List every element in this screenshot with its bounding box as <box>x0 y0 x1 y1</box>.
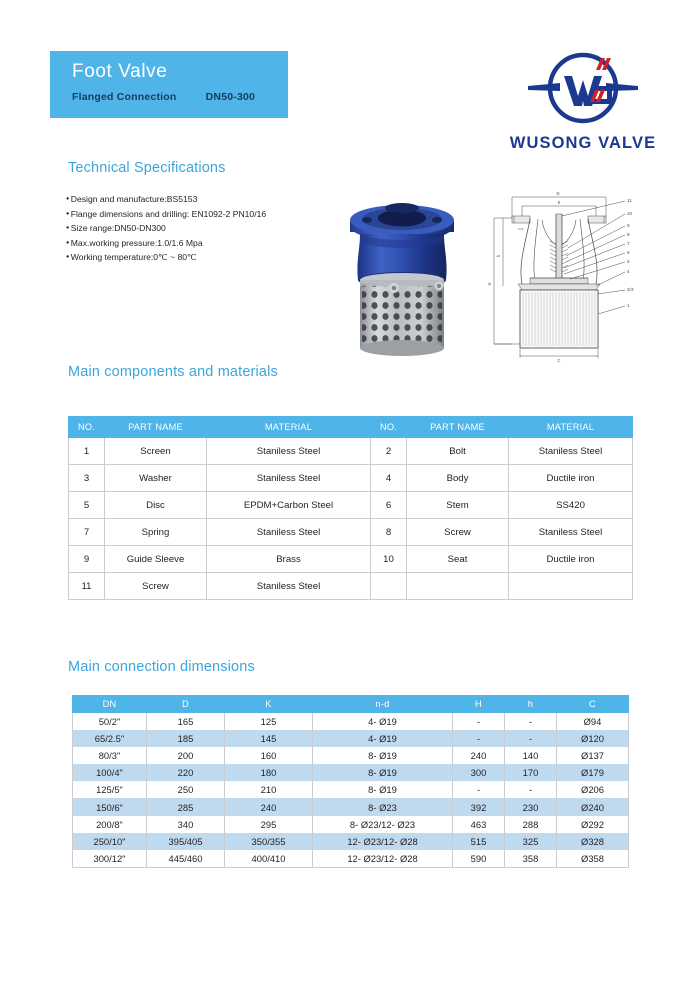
table-row: 50/2"1651254- Ø19--Ø94 <box>73 713 629 730</box>
dimension-label-h: h <box>496 254 501 257</box>
heading-technical-specifications: Technical Specifications <box>68 160 226 176</box>
components-table-body: 1ScreenStaniless Steel2BoltStaniless Ste… <box>69 438 633 600</box>
table-row: 100/4"2201808- Ø19300170Ø179 <box>73 764 629 781</box>
banner-subtitle: Flanged Connection DN50-300 <box>72 91 288 103</box>
table-cell: 463 <box>453 816 505 833</box>
table-cell: Brass <box>207 546 371 573</box>
spec-item: Size range:DN50-DN300 <box>66 221 366 236</box>
column-header: MATERIAL <box>207 417 371 438</box>
table-cell: 4- Ø19 <box>313 713 453 730</box>
table-cell: 165 <box>147 713 225 730</box>
connection-type-label: Flanged Connection <box>72 91 177 103</box>
table-cell: 358 <box>505 850 557 867</box>
table-cell: - <box>453 781 505 798</box>
technical-specifications-list: Design and manufacture:BS5153Flange dime… <box>66 192 366 265</box>
table-row: 125/5"2502108- Ø19--Ø206 <box>73 781 629 798</box>
table-row: 7SpringStaniless Steel8ScrewStaniless St… <box>69 519 633 546</box>
column-header: n-d <box>313 696 453 713</box>
table-cell: Washer <box>105 465 207 492</box>
spec-item: Max.working pressure:1.0/1.6 Mpa <box>66 236 366 251</box>
table-row: 80/3"2001608- Ø19240140Ø137 <box>73 747 629 764</box>
table-cell: 185 <box>147 730 225 747</box>
table-cell: 325 <box>505 833 557 850</box>
table-cell: 12- Ø23/12- Ø28 <box>313 850 453 867</box>
table-cell: 150/6" <box>73 798 147 815</box>
table-cell: SS420 <box>509 492 633 519</box>
callout-7: 7 <box>627 241 630 246</box>
company-logo: WUSONG VALVE <box>498 44 668 153</box>
foot-valve-cross-section-drawing: D K H h n-d <box>482 186 648 364</box>
table-cell: Staniless Steel <box>207 438 371 465</box>
table-cell: 3 <box>69 465 105 492</box>
table-cell: 8- Ø23 <box>313 798 453 815</box>
table-cell: 8- Ø23/12- Ø23 <box>313 816 453 833</box>
table-cell: 140 <box>505 747 557 764</box>
column-header: K <box>225 696 313 713</box>
table-cell: 125/5" <box>73 781 147 798</box>
table-cell: 200/8" <box>73 816 147 833</box>
table-cell: 250/10" <box>73 833 147 850</box>
table-cell: 220 <box>147 764 225 781</box>
callout-9: 9 <box>627 223 630 228</box>
table-cell: 9 <box>69 546 105 573</box>
table-row: 1ScreenStaniless Steel2BoltStaniless Ste… <box>69 438 633 465</box>
table-cell: 285 <box>147 798 225 815</box>
table-cell: Ductile iron <box>509 546 633 573</box>
table-cell: 125 <box>225 713 313 730</box>
column-header: h <box>505 696 557 713</box>
table-cell: 8 <box>371 519 407 546</box>
dimension-label-K: K <box>558 200 561 205</box>
table-cell: 400/410 <box>225 850 313 867</box>
table-cell: 4- Ø19 <box>313 730 453 747</box>
table-cell: 515 <box>453 833 505 850</box>
logo-wordmark: WUSONG VALVE <box>498 134 668 153</box>
table-cell: 2 <box>371 438 407 465</box>
table-cell: Ø292 <box>557 816 629 833</box>
table-cell: 6 <box>371 492 407 519</box>
table-row: 300/12"445/460400/41012- Ø23/12- Ø285903… <box>73 850 629 867</box>
callout-8: 8 <box>627 232 630 237</box>
callout-10: 10 <box>627 211 633 216</box>
table-row: 250/10"395/405350/35512- Ø23/12- Ø285153… <box>73 833 629 850</box>
table-cell: Staniless Steel <box>207 573 371 600</box>
table-cell: 590 <box>453 850 505 867</box>
callout-1: 1 <box>627 303 630 308</box>
table-cell: Screw <box>407 519 509 546</box>
table-cell: 65/2.5" <box>73 730 147 747</box>
callout-4: 4 <box>627 269 630 274</box>
dimension-label-nd: n-d <box>519 227 524 231</box>
table-cell: 145 <box>225 730 313 747</box>
table-cell: Ø137 <box>557 747 629 764</box>
table-cell: 350/355 <box>225 833 313 850</box>
callout-2-3: 2/3 <box>627 287 634 292</box>
column-header: C <box>557 696 629 713</box>
table-cell: Screw <box>105 573 207 600</box>
table-cell: 5 <box>69 492 105 519</box>
table-cell: Disc <box>105 492 207 519</box>
table-row: 11ScrewStaniless Steel <box>69 573 633 600</box>
table-cell: - <box>453 713 505 730</box>
spec-item: Flange dimensions and drilling: EN1092-2… <box>66 207 366 222</box>
table-cell: 200 <box>147 747 225 764</box>
table-cell: Staniless Steel <box>207 519 371 546</box>
column-header: H <box>453 696 505 713</box>
drawing-callout-labels: 11 10 9 8 7 6 5 4 2/3 1 <box>627 198 634 308</box>
table-row: 150/6"2852408- Ø23392230Ø240 <box>73 798 629 815</box>
table-cell: 288 <box>505 816 557 833</box>
table-cell: Ø240 <box>557 798 629 815</box>
table-cell: 240 <box>225 798 313 815</box>
components-materials-table: NO.PART NAMEMATERIALNO.PART NAMEMATERIAL… <box>68 416 633 600</box>
spec-item: Working temperature:0℃ ~ 80℃ <box>66 250 366 265</box>
table-cell: Bolt <box>407 438 509 465</box>
table-cell: Ø94 <box>557 713 629 730</box>
dimension-label-H: H <box>487 282 492 285</box>
table-cell: Ø328 <box>557 833 629 850</box>
table-cell: 240 <box>453 747 505 764</box>
table-cell: Ø358 <box>557 850 629 867</box>
table-cell: Ø206 <box>557 781 629 798</box>
table-cell: Screen <box>105 438 207 465</box>
table-cell: 8- Ø19 <box>313 781 453 798</box>
table-cell: Ø120 <box>557 730 629 747</box>
page-title: Foot Valve <box>72 60 288 84</box>
column-header: PART NAME <box>407 417 509 438</box>
table-cell: 1 <box>69 438 105 465</box>
table-header-row: NO.PART NAMEMATERIALNO.PART NAMEMATERIAL <box>69 417 633 438</box>
table-cell <box>407 573 509 600</box>
table-cell: Guide Sleeve <box>105 546 207 573</box>
table-cell: 12- Ø23/12- Ø28 <box>313 833 453 850</box>
table-cell <box>371 573 407 600</box>
callout-11: 11 <box>627 198 632 203</box>
table-cell: 340 <box>147 816 225 833</box>
foot-valve-photo-illustration <box>336 190 468 362</box>
table-header-row: DNDKn-dHhC <box>73 696 629 713</box>
table-cell: Ductile iron <box>509 465 633 492</box>
callout-5: 5 <box>627 259 630 264</box>
table-cell: 4 <box>371 465 407 492</box>
size-range-label: DN50-300 <box>206 91 255 103</box>
heading-main-components: Main components and materials <box>68 364 278 380</box>
spec-item: Design and manufacture:BS5153 <box>66 192 366 207</box>
table-cell: Staniless Steel <box>509 519 633 546</box>
table-cell: Stem <box>407 492 509 519</box>
product-photo <box>336 190 468 362</box>
table-row: 5DiscEPDM+Carbon Steel6StemSS420 <box>69 492 633 519</box>
table-cell: EPDM+Carbon Steel <box>207 492 371 519</box>
table-cell: 160 <box>225 747 313 764</box>
table-cell: 11 <box>69 573 105 600</box>
table-row: 65/2.5"1851454- Ø19--Ø120 <box>73 730 629 747</box>
table-cell: 395/405 <box>147 833 225 850</box>
logo-mark-icon <box>498 44 668 132</box>
table-cell: 8- Ø19 <box>313 747 453 764</box>
table-cell: 210 <box>225 781 313 798</box>
table-cell <box>509 573 633 600</box>
column-header: NO. <box>69 417 105 438</box>
table-cell: 100/4" <box>73 764 147 781</box>
table-cell: 445/460 <box>147 850 225 867</box>
table-cell: 7 <box>69 519 105 546</box>
table-cell: Ø179 <box>557 764 629 781</box>
table-cell: 80/3" <box>73 747 147 764</box>
table-row: 3WasherStaniless Steel4BodyDuctile iron <box>69 465 633 492</box>
dimensions-table-body: 50/2"1651254- Ø19--Ø9465/2.5"1851454- Ø1… <box>73 713 629 868</box>
table-cell: 300/12" <box>73 850 147 867</box>
table-cell: 392 <box>453 798 505 815</box>
heading-main-connection-dimensions: Main connection dimensions <box>68 659 255 675</box>
table-cell: Body <box>407 465 509 492</box>
table-cell: 10 <box>371 546 407 573</box>
table-cell: - <box>453 730 505 747</box>
table-cell: 295 <box>225 816 313 833</box>
technical-drawing: D K H h n-d <box>482 186 648 364</box>
dimension-label-C: C <box>557 358 560 363</box>
table-cell: - <box>505 730 557 747</box>
table-cell: 180 <box>225 764 313 781</box>
table-cell: - <box>505 713 557 730</box>
column-header: DN <box>73 696 147 713</box>
connection-dimensions-table: DNDKn-dHhC 50/2"1651254- Ø19--Ø9465/2.5"… <box>72 695 629 868</box>
table-row: 9Guide SleeveBrass10SeatDuctile iron <box>69 546 633 573</box>
column-header: D <box>147 696 225 713</box>
table-row: 200/8"3402958- Ø23/12- Ø23463288Ø292 <box>73 816 629 833</box>
table-cell: 8- Ø19 <box>313 764 453 781</box>
column-header: NO. <box>371 417 407 438</box>
table-cell: Seat <box>407 546 509 573</box>
table-cell: Staniless Steel <box>509 438 633 465</box>
table-cell: 250 <box>147 781 225 798</box>
callout-6: 6 <box>627 250 630 255</box>
table-cell: 170 <box>505 764 557 781</box>
table-cell: 230 <box>505 798 557 815</box>
title-banner: Foot Valve Flanged Connection DN50-300 <box>50 51 288 118</box>
table-cell: Spring <box>105 519 207 546</box>
table-cell: 50/2" <box>73 713 147 730</box>
table-cell: - <box>505 781 557 798</box>
column-header: MATERIAL <box>509 417 633 438</box>
dimension-label-D: D <box>556 191 559 196</box>
column-header: PART NAME <box>105 417 207 438</box>
table-cell: 300 <box>453 764 505 781</box>
table-cell: Staniless Steel <box>207 465 371 492</box>
